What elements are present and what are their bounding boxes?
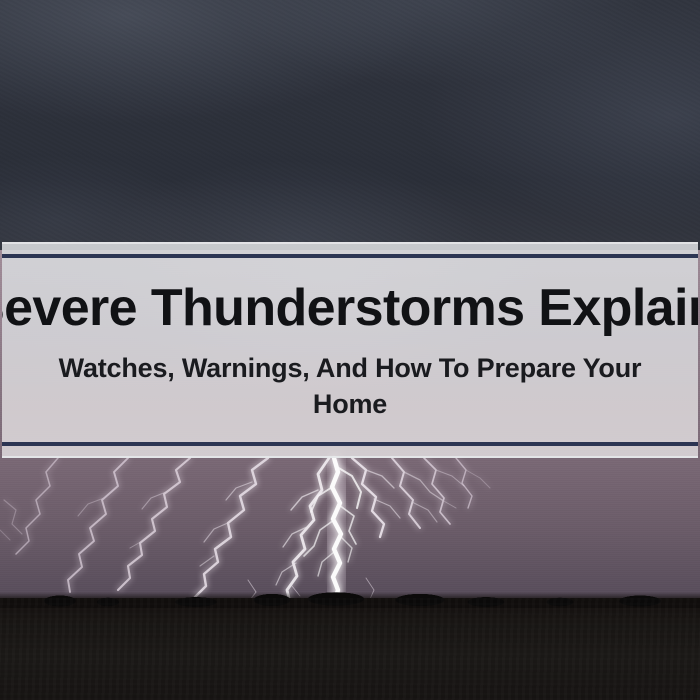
banner-content: Severe Thunderstorms Explained Watches, … <box>2 258 698 446</box>
page-title: Severe Thunderstorms Explained <box>2 281 698 336</box>
hero-banner-image: Severe Thunderstorms Explained Watches, … <box>0 0 700 700</box>
field-and-treeline <box>0 598 700 700</box>
title-banner: Severe Thunderstorms Explained Watches, … <box>2 242 698 458</box>
page-subtitle: Watches, Warnings, And How To Prepare Yo… <box>40 350 660 423</box>
